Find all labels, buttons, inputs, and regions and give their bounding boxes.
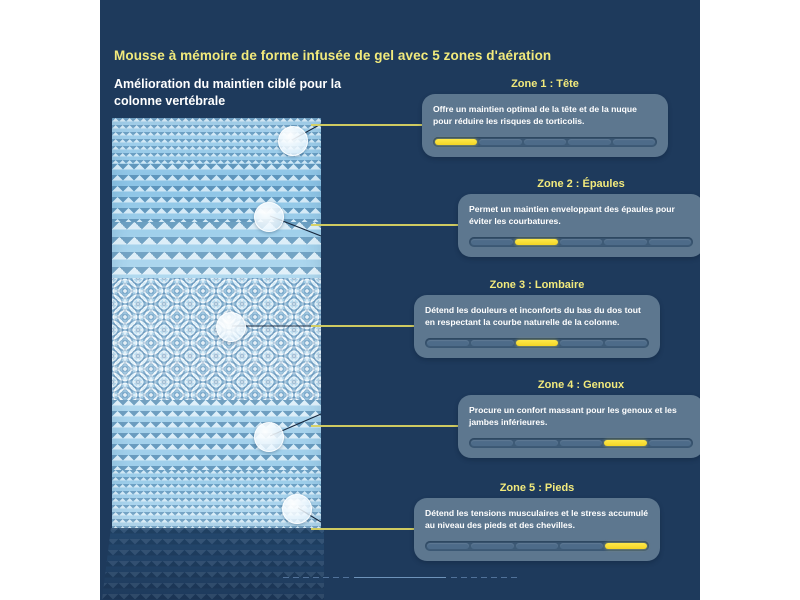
zone-description-1: Offre un maintien optimal de la tête et …	[433, 103, 657, 128]
progress-segment	[524, 139, 566, 145]
zone-card-5[interactable]: Zone 5 : Pieds Détend les tensions muscu…	[414, 482, 660, 561]
zone-title-5: Zone 5 : Pieds	[414, 482, 660, 494]
zone-card-4[interactable]: Zone 4 : Genoux Procure un confort massa…	[458, 379, 700, 458]
magnifier-bubble-zone-3	[216, 312, 246, 342]
progress-segment	[649, 440, 691, 446]
zone-card-body-1: Offre un maintien optimal de la tête et …	[422, 94, 668, 157]
divider-dash	[471, 577, 477, 579]
divider-dash	[293, 577, 299, 579]
zone-description-5: Détend les tensions musculaires et le st…	[425, 507, 649, 532]
zone-description-2: Permet un maintien enveloppant des épaul…	[469, 203, 693, 228]
magnifier-bubble-zone-4	[254, 422, 284, 452]
zone-card-body-3: Détend les douleurs et inconforts du bas…	[414, 295, 660, 358]
divider-dash	[451, 577, 457, 579]
progress-segment	[560, 440, 602, 446]
zone-description-3: Détend les douleurs et inconforts du bas…	[425, 304, 649, 329]
divider-dash	[303, 577, 309, 579]
progress-segment	[471, 543, 513, 549]
connector-line-zone-4	[311, 425, 461, 427]
zone-card-body-4: Procure un confort massant pour les geno…	[458, 395, 700, 458]
progress-segment	[568, 139, 610, 145]
progress-segment	[613, 139, 655, 145]
progress-segment	[605, 340, 647, 346]
progress-segment	[427, 340, 469, 346]
progress-segment	[427, 543, 469, 549]
zone-description-4: Procure un confort massant pour les geno…	[469, 404, 693, 429]
zone-progress-bar-3[interactable]	[425, 338, 649, 348]
zone-card-body-2: Permet un maintien enveloppant des épaul…	[458, 194, 700, 257]
progress-segment	[471, 340, 513, 346]
content-panel: Mousse à mémoire de forme infusée de gel…	[100, 0, 700, 600]
infographic-root: Mousse à mémoire de forme infusée de gel…	[0, 0, 800, 600]
progress-segment	[605, 543, 647, 549]
divider-dash	[313, 577, 319, 579]
divider-dash	[283, 577, 289, 579]
divider-dash	[343, 577, 349, 579]
divider-dash	[461, 577, 467, 579]
zone-progress-bar-1[interactable]	[433, 137, 657, 147]
progress-segment	[471, 239, 513, 245]
mattress-base-shadow	[102, 528, 324, 600]
connector-line-zone-5	[311, 528, 417, 530]
magnifier-bubble-zone-1	[278, 126, 308, 156]
divider-dash	[511, 577, 517, 579]
mattress-body	[112, 118, 321, 530]
progress-segment	[471, 440, 513, 446]
progress-segment	[516, 543, 558, 549]
texture-band-circles	[112, 278, 321, 400]
zone-progress-bar-4[interactable]	[469, 438, 693, 448]
progress-segment	[560, 239, 602, 245]
page-title: Mousse à mémoire de forme infusée de gel…	[114, 48, 674, 63]
progress-segment	[560, 543, 602, 549]
texture-band-wave-medium-lower	[112, 400, 321, 470]
connector-line-zone-3	[311, 325, 417, 327]
subtitle: Amélioration du maintien ciblé pour la c…	[114, 76, 364, 110]
progress-segment	[604, 440, 646, 446]
progress-segment	[479, 139, 521, 145]
magnifier-bubble-zone-5	[282, 494, 312, 524]
zone-card-3[interactable]: Zone 3 : Lombaire Détend les douleurs et…	[414, 279, 660, 358]
zone-title-2: Zone 2 : Épaules	[458, 178, 700, 190]
zone-title-4: Zone 4 : Genoux	[458, 379, 700, 391]
divider-dash	[501, 577, 507, 579]
progress-segment	[516, 340, 558, 346]
progress-segment	[560, 340, 602, 346]
divider-dashes-left	[283, 577, 349, 579]
progress-segment	[515, 440, 557, 446]
zone-card-body-5: Détend les tensions musculaires et le st…	[414, 498, 660, 561]
divider-dash	[491, 577, 497, 579]
texture-band-wave-large	[112, 222, 321, 278]
divider-solid-line	[354, 577, 446, 579]
texture-band-circles-offset	[112, 278, 321, 400]
progress-segment	[649, 239, 691, 245]
zone-progress-bar-5[interactable]	[425, 541, 649, 551]
progress-segment	[604, 239, 646, 245]
progress-segment	[435, 139, 477, 145]
connector-line-zone-1	[311, 124, 425, 126]
zone-card-2[interactable]: Zone 2 : Épaules Permet un maintien enve…	[458, 178, 700, 257]
zone-card-1[interactable]: Zone 1 : Tête Offre un maintien optimal …	[422, 78, 668, 157]
divider-dash	[333, 577, 339, 579]
texture-band-wave-medium-upper	[112, 164, 321, 222]
divider-dash	[481, 577, 487, 579]
decorative-divider	[100, 577, 700, 579]
connector-line-zone-2	[311, 224, 461, 226]
progress-segment	[515, 239, 557, 245]
divider-dash	[323, 577, 329, 579]
zone-progress-bar-2[interactable]	[469, 237, 693, 247]
magnifier-bubble-zone-2	[254, 202, 284, 232]
mattress-base-texture	[102, 528, 324, 600]
zone-title-3: Zone 3 : Lombaire	[414, 279, 660, 291]
zone-title-1: Zone 1 : Tête	[422, 78, 668, 90]
divider-dashes-right	[451, 577, 517, 579]
mattress-illustration	[112, 118, 321, 530]
